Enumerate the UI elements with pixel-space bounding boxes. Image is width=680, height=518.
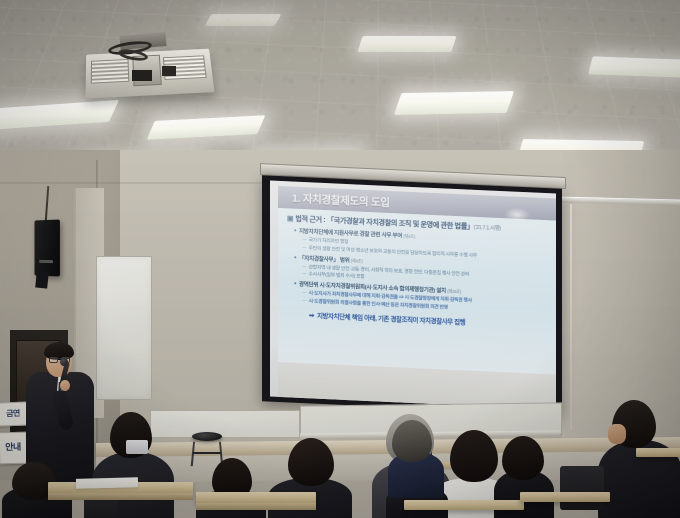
projection-screen: 1. 자치경찰제도의 도입 ▣법적 근거 : 「국가경찰과 자치경찰의 조직 및…	[262, 175, 562, 421]
audience-head	[502, 436, 544, 480]
dash-marker-icon: －	[302, 265, 307, 270]
paper-on-desk	[76, 477, 138, 489]
ac-control-box	[132, 70, 152, 81]
slide-body: ▣법적 근거 : 「국가경찰과 자치경찰의 조직 및 운영에 관한 법률」(’2…	[278, 208, 556, 375]
wall-sign-lower-text: 안내	[5, 443, 21, 453]
desk	[636, 448, 680, 457]
ceiling-light	[588, 56, 680, 77]
desk-edge	[48, 493, 193, 500]
desk-edge	[196, 503, 316, 510]
slide-bullet-note: (제18조)	[447, 289, 461, 295]
speaker-bracket	[35, 271, 49, 288]
desk	[520, 492, 610, 502]
bullet-dot-icon: ●	[294, 254, 296, 259]
audience-head	[392, 420, 432, 462]
screen-surface: 1. 자치경찰제도의 도입 ▣법적 근거 : 「국가경찰과 자치경찰의 조직 및…	[270, 181, 556, 410]
screen-pull-cord	[570, 204, 572, 430]
slide-bullet-note: (제4조)	[351, 258, 363, 264]
microphone-head-icon	[60, 358, 68, 366]
chair-back	[560, 466, 604, 510]
wall-speaker	[34, 220, 59, 277]
bullet-dot-icon: ●	[294, 228, 296, 233]
presenter-hand	[60, 380, 70, 391]
ceiling-light	[205, 14, 282, 26]
dash-marker-icon: －	[302, 291, 307, 296]
arrow-right-icon: ➡	[309, 312, 314, 319]
lecture-hall-photo: 금연 안내 1. 자치경찰제도의 도입 ▣법적 근거 : 「국가경찰과 자치경찰…	[0, 0, 680, 518]
slide-square-marker-icon: ▣	[287, 214, 293, 222]
ac-sensor	[162, 66, 176, 76]
whiteboard	[96, 256, 152, 400]
dash-marker-icon: －	[302, 272, 307, 277]
audience-head	[288, 438, 334, 486]
dash-marker-icon: －	[302, 238, 307, 243]
wall-sign-lower: 안내	[0, 432, 27, 464]
slide-subbullet-text: 수사사무(일부 범죄 수사) 포함	[309, 272, 365, 280]
audience-head	[450, 430, 498, 482]
wall-sign-upper: 금연	[0, 401, 28, 426]
whiteboard	[150, 410, 300, 438]
slide-bullet-note: (제4조)	[403, 234, 415, 240]
wall-sign-upper-text: 금연	[6, 410, 20, 419]
ceiling-light	[357, 36, 456, 52]
desk	[404, 500, 524, 510]
slide-conclusion-text: 지방자치단체 책임 아래, 기존 경찰조직이 자치경찰사무 집행	[317, 312, 465, 326]
slide-legal-basis-tail: (’21.7.1.시행)	[474, 225, 501, 232]
slide-title: 1. 자치경찰제도의 도입	[292, 190, 390, 209]
stool-seat	[192, 432, 222, 441]
stool-crossbar	[193, 452, 221, 454]
speaker-badge	[39, 260, 53, 263]
ac-vent	[91, 59, 129, 84]
ceiling-light	[394, 91, 514, 115]
audience-collar	[126, 440, 148, 454]
projector-hotspot	[504, 207, 530, 222]
audience-face	[608, 424, 626, 444]
bullet-dot-icon: ●	[294, 281, 296, 286]
dash-marker-icon: －	[302, 246, 307, 251]
dash-marker-icon: －	[302, 299, 307, 304]
